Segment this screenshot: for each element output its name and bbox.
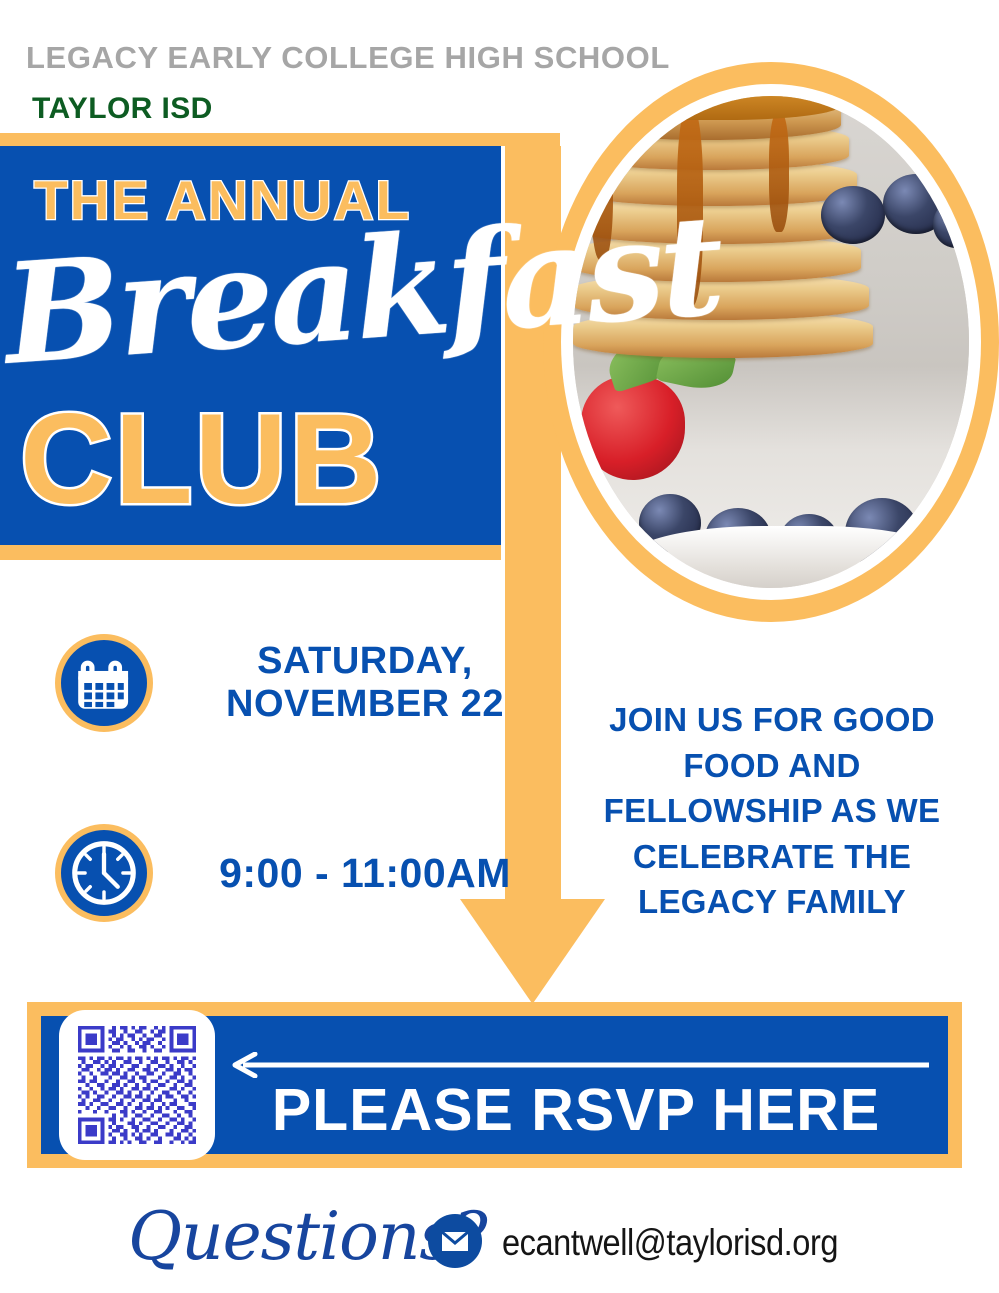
qr-code-icon: [74, 1022, 200, 1148]
blueberry: [821, 186, 885, 244]
footer: Questions? ecantwell@taylorisd.org: [0, 1190, 999, 1293]
clock-icon: [55, 824, 153, 922]
strawberry: [581, 376, 685, 480]
plate: [625, 526, 955, 588]
title-block: THE ANNUAL Breakfast CLUB: [0, 146, 501, 545]
calendar-icon-glyph: [61, 640, 147, 726]
calendar-icon: [55, 634, 153, 732]
contact-email[interactable]: ecantwell@taylorisd.org: [502, 1222, 838, 1264]
title-line-club: CLUB: [20, 386, 384, 533]
rsvp-banner-inner: PLEASE RSVP HERE: [41, 1016, 948, 1154]
envelope-icon: [428, 1214, 482, 1268]
header: LEGACY EARLY COLLEGE HIGH SCHOOL TAYLOR …: [0, 0, 999, 140]
school-name: LEGACY EARLY COLLEGE HIGH SCHOOL: [26, 40, 670, 76]
event-date: SATURDAY, NOVEMBER 22: [180, 640, 550, 725]
arrow-left-icon: [229, 1052, 929, 1078]
clock-icon-glyph: [61, 830, 147, 916]
envelope-icon-glyph: [428, 1214, 482, 1268]
rsvp-label: PLEASE RSVP HERE: [221, 1076, 931, 1144]
invitation-text: JOIN US FOR GOOD FOOD AND FELLOWSHIP AS …: [572, 697, 972, 925]
district-name: TAYLOR ISD: [32, 92, 213, 126]
event-time: 9:00 - 11:00AM: [175, 850, 555, 897]
title-bottom-bar: [0, 545, 501, 560]
rsvp-banner[interactable]: PLEASE RSVP HERE: [27, 1002, 962, 1168]
qr-code[interactable]: [59, 1010, 215, 1160]
